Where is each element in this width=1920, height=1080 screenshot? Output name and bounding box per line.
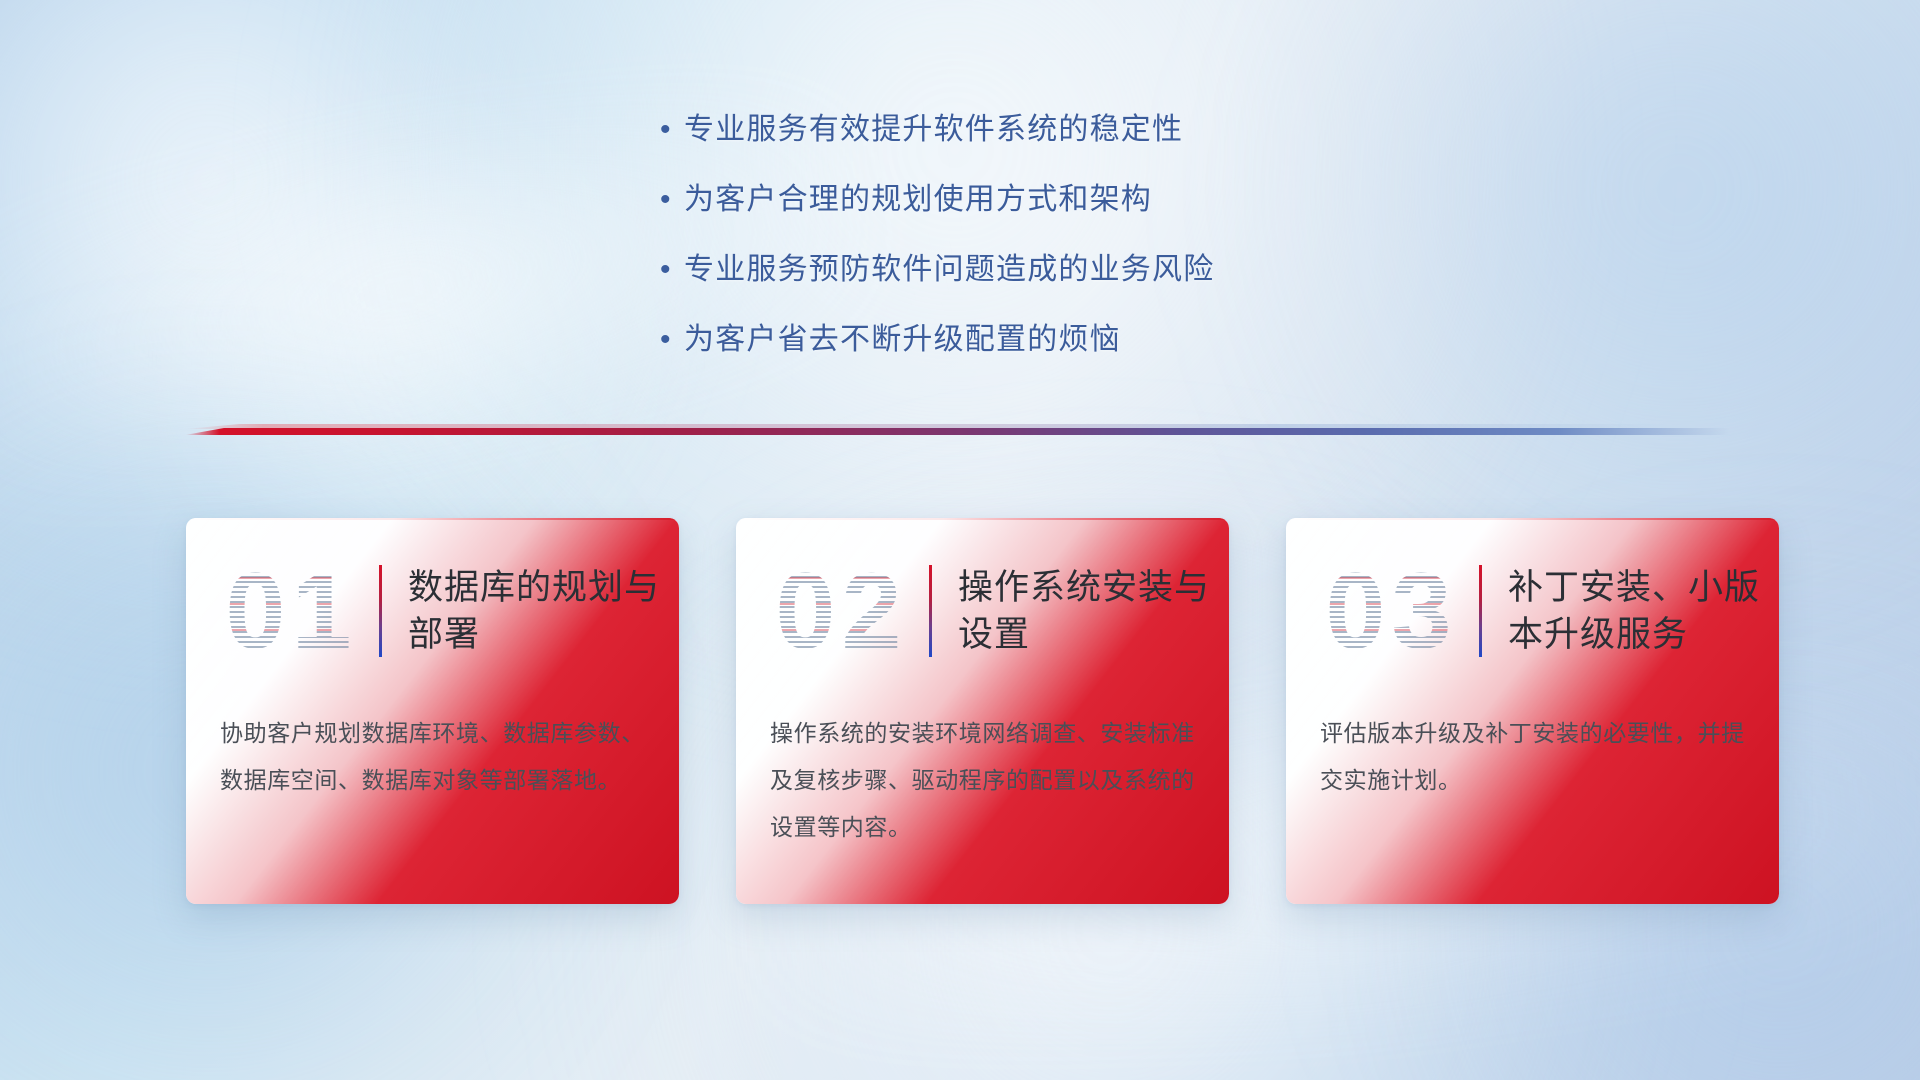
card-number-tint: 03 — [1304, 551, 1479, 671]
bullet-text: 为客户合理的规划使用方式和架构 — [684, 180, 1152, 220]
card-title: 补丁安装、小版本升级服务 — [1508, 564, 1779, 658]
service-card-02[interactable]: 02 02 操作系统安装与设置 操作系统的安装环境网络调查、安装标准及复核步骤、… — [736, 518, 1229, 904]
card-body-text: 评估版本升级及补丁安装的必要性，并提交实施计划。 — [1320, 710, 1751, 804]
card-top-accent — [186, 518, 679, 520]
card-number: 03 03 — [1304, 551, 1479, 671]
card-group: 01 01 数据库的规划与部署 协助客户规划数据库环境、数据库参数、数据库空间、… — [186, 518, 1779, 904]
card-top-accent — [736, 518, 1229, 520]
card-title-divider — [1479, 565, 1482, 657]
bullet-marker-icon: • — [660, 320, 684, 360]
card-body-text: 操作系统的安装环境网络调查、安装标准及复核步骤、驱动程序的配置以及系统的设置等内… — [770, 710, 1201, 851]
card-title-divider — [929, 565, 932, 657]
card-body-text: 协助客户规划数据库环境、数据库参数、数据库空间、数据库对象等部署落地。 — [220, 710, 651, 804]
section-divider — [185, 424, 1745, 440]
bullet-text: 专业服务预防软件问题造成的业务风险 — [684, 250, 1214, 290]
card-title-divider — [379, 565, 382, 657]
list-item: • 专业服务预防软件问题造成的业务风险 — [660, 250, 1214, 290]
bullet-list: • 专业服务有效提升软件系统的稳定性 • 为客户合理的规划使用方式和架构 • 专… — [660, 110, 1214, 360]
service-card-03[interactable]: 03 03 补丁安装、小版本升级服务 评估版本升级及补丁安装的必要性，并提交实施… — [1286, 518, 1779, 904]
bullet-marker-icon: • — [660, 110, 684, 150]
bullet-marker-icon: • — [660, 250, 684, 290]
card-number-tint: 01 — [204, 551, 379, 671]
card-top-accent — [1286, 518, 1779, 520]
card-number: 02 02 — [754, 551, 929, 671]
bullet-marker-icon: • — [660, 180, 684, 220]
card-number-tint: 02 — [754, 551, 929, 671]
card-number: 01 01 — [204, 551, 379, 671]
list-item: • 专业服务有效提升软件系统的稳定性 — [660, 110, 1214, 150]
list-item: • 为客户省去不断升级配置的烦恼 — [660, 320, 1214, 360]
divider-line — [185, 428, 1745, 435]
service-card-01[interactable]: 01 01 数据库的规划与部署 协助客户规划数据库环境、数据库参数、数据库空间、… — [186, 518, 679, 904]
card-title: 数据库的规划与部署 — [408, 564, 679, 658]
bullet-text: 专业服务有效提升软件系统的稳定性 — [684, 110, 1183, 150]
bullet-text: 为客户省去不断升级配置的烦恼 — [684, 320, 1121, 360]
card-header: 03 03 补丁安装、小版本升级服务 — [1286, 546, 1779, 676]
card-header: 02 02 操作系统安装与设置 — [736, 546, 1229, 676]
card-header: 01 01 数据库的规划与部署 — [186, 546, 679, 676]
card-title: 操作系统安装与设置 — [958, 564, 1229, 658]
list-item: • 为客户合理的规划使用方式和架构 — [660, 180, 1214, 220]
